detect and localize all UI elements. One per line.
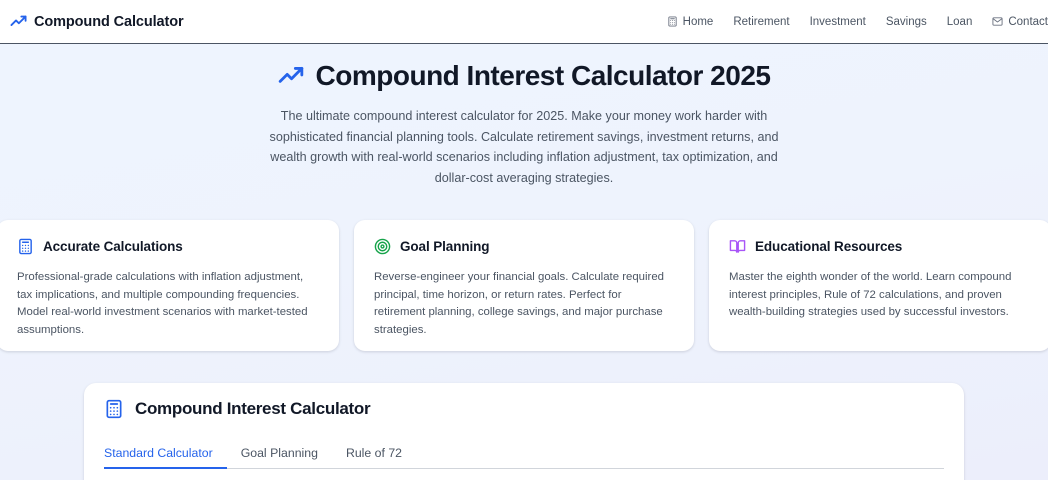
book-open-icon <box>729 238 746 255</box>
site-header: Compound Calculator Home Retirement Inve… <box>0 0 1048 44</box>
page-title: Compound Interest Calculator 2025 <box>0 60 1048 92</box>
trending-up-icon <box>10 13 27 30</box>
feature-card-header: Educational Resources <box>729 238 1031 255</box>
nav-label-loan: Loan <box>947 16 973 28</box>
feature-card-header: Accurate Calculations <box>17 238 319 255</box>
target-icon <box>374 238 391 255</box>
feature-card-title: Goal Planning <box>400 239 489 254</box>
nav-item-investment[interactable]: Investment <box>810 16 866 28</box>
nav-item-contact[interactable]: Contact <box>992 16 1048 28</box>
feature-card-accurate-calculations: Accurate Calculations Professional-grade… <box>0 220 339 351</box>
main-nav: Home Retirement Investment Savings Loan … <box>667 16 1048 28</box>
hero-subtitle: The ultimate compound interest calculato… <box>259 106 789 188</box>
feature-card-description: Professional-grade calculations with inf… <box>17 269 319 339</box>
brand-title: Compound Calculator <box>34 14 184 30</box>
feature-card-title: Educational Resources <box>755 239 902 254</box>
tab-rule-of-72[interactable]: Rule of 72 <box>332 446 416 468</box>
hero-section: Compound Interest Calculator 2025 The ul… <box>0 60 1048 188</box>
calculator-panel: Compound Interest Calculator Standard Ca… <box>84 383 964 480</box>
feature-card-title: Accurate Calculations <box>43 239 183 254</box>
feature-card-description: Reverse-engineer your financial goals. C… <box>374 269 674 339</box>
feature-card-goal-planning: Goal Planning Reverse-engineer your fina… <box>354 220 694 351</box>
calculator-icon <box>667 16 678 27</box>
nav-label-contact: Contact <box>1008 16 1048 28</box>
nav-item-loan[interactable]: Loan <box>947 16 973 28</box>
nav-label-home: Home <box>683 16 714 28</box>
tab-goal-planning[interactable]: Goal Planning <box>227 446 332 468</box>
calculator-icon <box>17 238 34 255</box>
tab-standard-calculator[interactable]: Standard Calculator <box>104 446 227 468</box>
mail-icon <box>992 16 1003 27</box>
nav-item-savings[interactable]: Savings <box>886 16 927 28</box>
nav-label-investment: Investment <box>810 16 866 28</box>
feature-card-list: Accurate Calculations Professional-grade… <box>0 220 1048 351</box>
calculator-panel-header: Compound Interest Calculator <box>104 399 944 419</box>
nav-item-home[interactable]: Home <box>667 16 714 28</box>
nav-item-retirement[interactable]: Retirement <box>733 16 789 28</box>
calculator-tabs: Standard Calculator Goal Planning Rule o… <box>104 440 944 469</box>
calculator-icon <box>104 399 124 419</box>
calculator-panel-title: Compound Interest Calculator <box>135 399 370 419</box>
page-root: Compound Calculator Home Retirement Inve… <box>0 0 1048 480</box>
nav-label-retirement: Retirement <box>733 16 789 28</box>
brand-logo[interactable]: Compound Calculator <box>10 13 184 30</box>
feature-card-educational-resources: Educational Resources Master the eighth … <box>709 220 1048 351</box>
nav-label-savings: Savings <box>886 16 927 28</box>
page-title-text: Compound Interest Calculator 2025 <box>316 60 771 92</box>
feature-card-description: Master the eighth wonder of the world. L… <box>729 269 1031 322</box>
feature-card-header: Goal Planning <box>374 238 674 255</box>
trending-up-icon <box>278 63 304 89</box>
